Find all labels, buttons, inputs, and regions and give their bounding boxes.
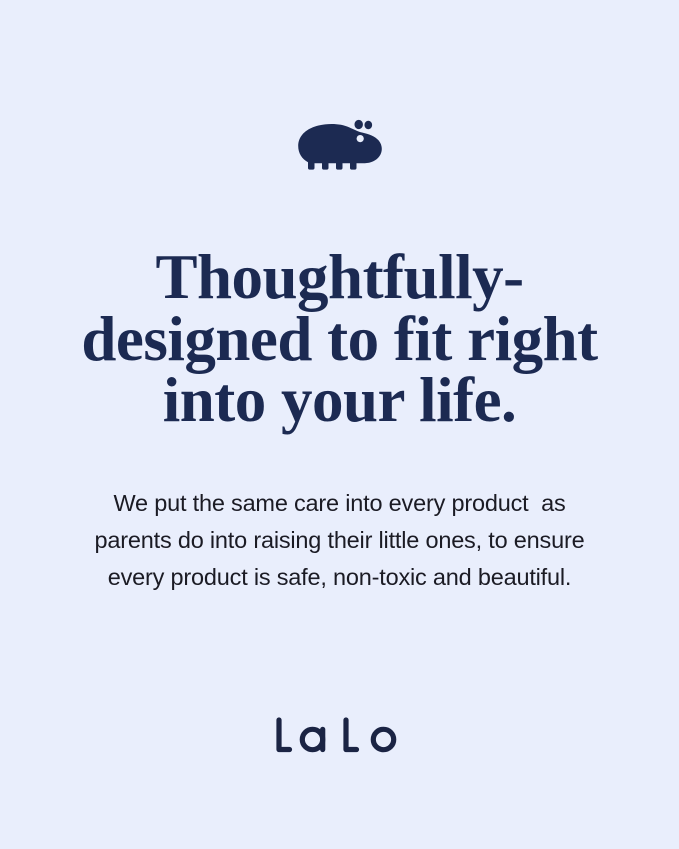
headline-line-1: Thoughtfully- [60, 247, 620, 309]
body-line-2: parents do into raising their little one… [75, 522, 605, 559]
promotional-card: Thoughtfully- designed to fit right into… [0, 0, 679, 849]
body-line-3: every product is safe, non-toxic and bea… [75, 559, 605, 596]
hippo-icon [296, 118, 384, 174]
body-paragraph: We put the same care into every product … [75, 485, 605, 596]
lalo-wordmark [270, 714, 410, 758]
body-line-1: We put the same care into every product … [75, 485, 605, 522]
page-title: Thoughtfully- designed to fit right into… [60, 247, 620, 432]
headline-line-2: designed to fit right [60, 309, 620, 371]
headline-line-3: into your life. [60, 370, 620, 432]
